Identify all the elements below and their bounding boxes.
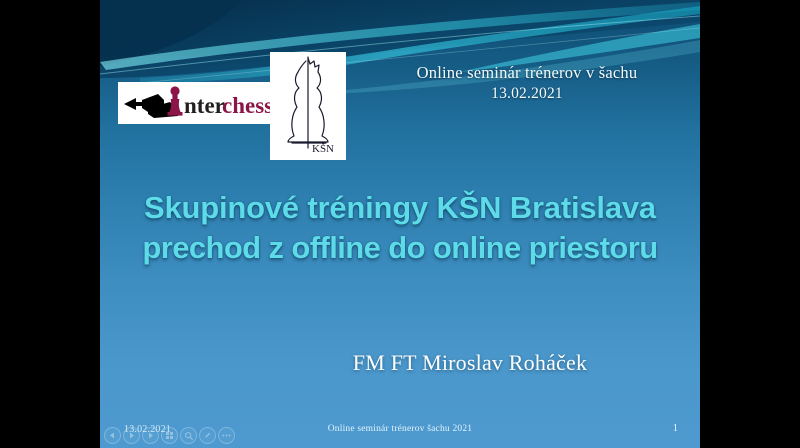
pen-icon — [203, 431, 212, 440]
previous-slide-button[interactable] — [104, 427, 121, 444]
play-icon — [127, 431, 136, 440]
header-line-2: 13.02.2021 — [372, 84, 682, 104]
pen-button[interactable] — [199, 427, 216, 444]
playback-controls[interactable] — [104, 427, 235, 444]
next-slide-button[interactable] — [142, 427, 159, 444]
title-line-2: prechod z offline do online priestoru — [108, 228, 692, 268]
slides-overview-button[interactable] — [161, 427, 178, 444]
svg-text:chess: chess — [222, 93, 270, 118]
grid-icon — [165, 431, 174, 440]
slide-header: Online seminár trénerov v šachu 13.02.20… — [372, 62, 682, 104]
letterbox-left — [0, 0, 100, 448]
more-options-button[interactable] — [218, 427, 235, 444]
title-line-1: Skupinové tréningy KŠN Bratislava — [108, 188, 692, 228]
letterbox-right — [700, 0, 800, 448]
ellipsis-icon — [221, 431, 232, 440]
next-icon — [146, 431, 155, 440]
presentation-viewer: nter chess KŠN — [0, 0, 800, 448]
ksn-logo: KŠN — [270, 52, 346, 160]
slide-canvas[interactable]: nter chess KŠN — [100, 0, 700, 448]
svg-text:nter: nter — [184, 93, 225, 118]
play-button[interactable] — [123, 427, 140, 444]
corner-shade-decoration — [100, 0, 360, 56]
zoom-button[interactable] — [180, 427, 197, 444]
interchess-logo: nter chess — [118, 82, 270, 124]
slide-author: FM FT Miroslav Roháček — [260, 350, 680, 376]
footer-page-number: 1 — [673, 423, 678, 434]
slide-title: Skupinové tréningy KŠN Bratislava precho… — [108, 188, 692, 269]
previous-icon — [108, 431, 117, 440]
svg-text:KŠN: KŠN — [312, 143, 334, 155]
header-line-1: Online seminár trénerov v šachu — [372, 62, 682, 84]
magnifier-icon — [184, 431, 194, 441]
